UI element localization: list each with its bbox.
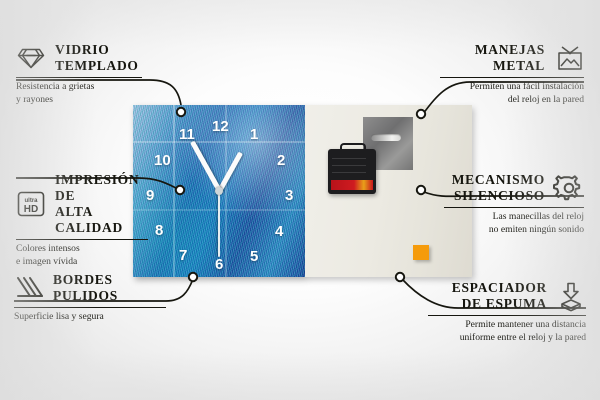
feature-manejas-metal[interactable]: MANEJASMETAL Permiten una fácil instalac… xyxy=(440,42,584,107)
diamond-icon xyxy=(16,43,46,73)
clock-number-2: 2 xyxy=(277,153,285,168)
clock-number-6: 6 xyxy=(215,257,223,272)
feature-description: Permiten una fácil instalacióndel reloj … xyxy=(440,81,584,106)
clock-number-11: 11 xyxy=(179,127,195,142)
clock-second-hand xyxy=(218,191,219,257)
feature-title: MECANISMOSILENCIOSO xyxy=(452,172,545,204)
clock-number-7: 7 xyxy=(179,248,187,263)
feature-espaciador-espuma[interactable]: ESPACIADORDE ESPUMA Permite mantener una… xyxy=(428,280,586,345)
feature-description: Colores intensose imagen vívida xyxy=(16,243,148,268)
divider xyxy=(428,315,586,317)
ultra-hd-icon-bottom: HD xyxy=(24,204,38,215)
infographic-canvas: 12 1 2 3 4 5 6 7 8 9 10 11 xyxy=(0,0,600,400)
clock-hand-hub xyxy=(215,187,223,195)
clock-number-8: 8 xyxy=(155,223,163,238)
feature-header: BORDESPULIDOS xyxy=(14,272,166,304)
feature-header: MECANISMOSILENCIOSO xyxy=(444,172,584,204)
clock-number-5: 5 xyxy=(250,249,258,264)
mechanism-line xyxy=(332,165,366,166)
feature-title: BORDESPULIDOS xyxy=(53,272,118,304)
feature-header: ultra HD IMPRESIÓN DEALTA CALIDAD xyxy=(16,172,148,236)
divider xyxy=(440,77,584,79)
product-photo: 12 1 2 3 4 5 6 7 8 9 10 11 xyxy=(133,105,472,277)
feature-title: MANEJASMETAL xyxy=(475,42,545,74)
clock-number-9: 9 xyxy=(146,188,154,203)
feature-header: VIDRIOTEMPLADO xyxy=(16,42,142,74)
clock-mechanism xyxy=(328,149,376,194)
clock-number-1: 1 xyxy=(250,127,258,142)
clock-number-12: 12 xyxy=(212,119,229,134)
foam-spacer-arrow-icon xyxy=(556,281,586,311)
mechanism-label-strip xyxy=(331,180,373,190)
feature-vidrio-templado[interactable]: VIDRIOTEMPLADO Resistencia a grietasy ra… xyxy=(16,42,142,107)
feature-title: VIDRIOTEMPLADO xyxy=(55,42,139,74)
clock-hour-hand xyxy=(219,153,243,193)
mechanism-line xyxy=(332,158,366,159)
ultra-hd-icon: ultra HD xyxy=(16,189,46,219)
mechanism-line xyxy=(332,172,366,173)
feature-bordes-pulidos[interactable]: BORDESPULIDOS Superficie lisa y segura xyxy=(14,272,166,324)
gear-icon xyxy=(554,173,584,203)
clock-number-3: 3 xyxy=(285,188,293,203)
clock-minute-hand xyxy=(192,141,221,191)
feature-description: Resistencia a grietasy rayones xyxy=(16,81,142,106)
feature-description: Permite mantener una distanciauniforme e… xyxy=(428,319,586,344)
picture-frame-icon xyxy=(554,43,584,73)
feature-mecanismo-silencioso[interactable]: MECANISMOSILENCIOSO Las manecillas del r… xyxy=(444,172,584,237)
clock-front-face: 12 1 2 3 4 5 6 7 8 9 10 11 xyxy=(133,105,305,277)
feature-description: Las manecillas del relojno emiten ningún… xyxy=(444,211,584,236)
clock-number-10: 10 xyxy=(154,153,171,168)
divider xyxy=(444,207,584,209)
divider xyxy=(16,77,142,79)
mechanism-bracket xyxy=(340,143,366,154)
feature-title: IMPRESIÓN DEALTA CALIDAD xyxy=(55,172,148,236)
feature-title: ESPACIADORDE ESPUMA xyxy=(452,280,547,312)
foam-spacer-square xyxy=(413,245,429,260)
feature-impresion-alta-calidad[interactable]: ultra HD IMPRESIÓN DEALTA CALIDAD Colore… xyxy=(16,172,148,269)
feature-header: MANEJASMETAL xyxy=(440,42,584,74)
polished-edges-icon xyxy=(14,273,44,303)
feature-header: ESPACIADORDE ESPUMA xyxy=(428,280,586,312)
divider xyxy=(16,239,148,241)
clock-number-4: 4 xyxy=(275,224,283,239)
hanger-slot xyxy=(371,134,401,141)
feature-description: Superficie lisa y segura xyxy=(14,311,166,324)
divider xyxy=(14,307,166,309)
